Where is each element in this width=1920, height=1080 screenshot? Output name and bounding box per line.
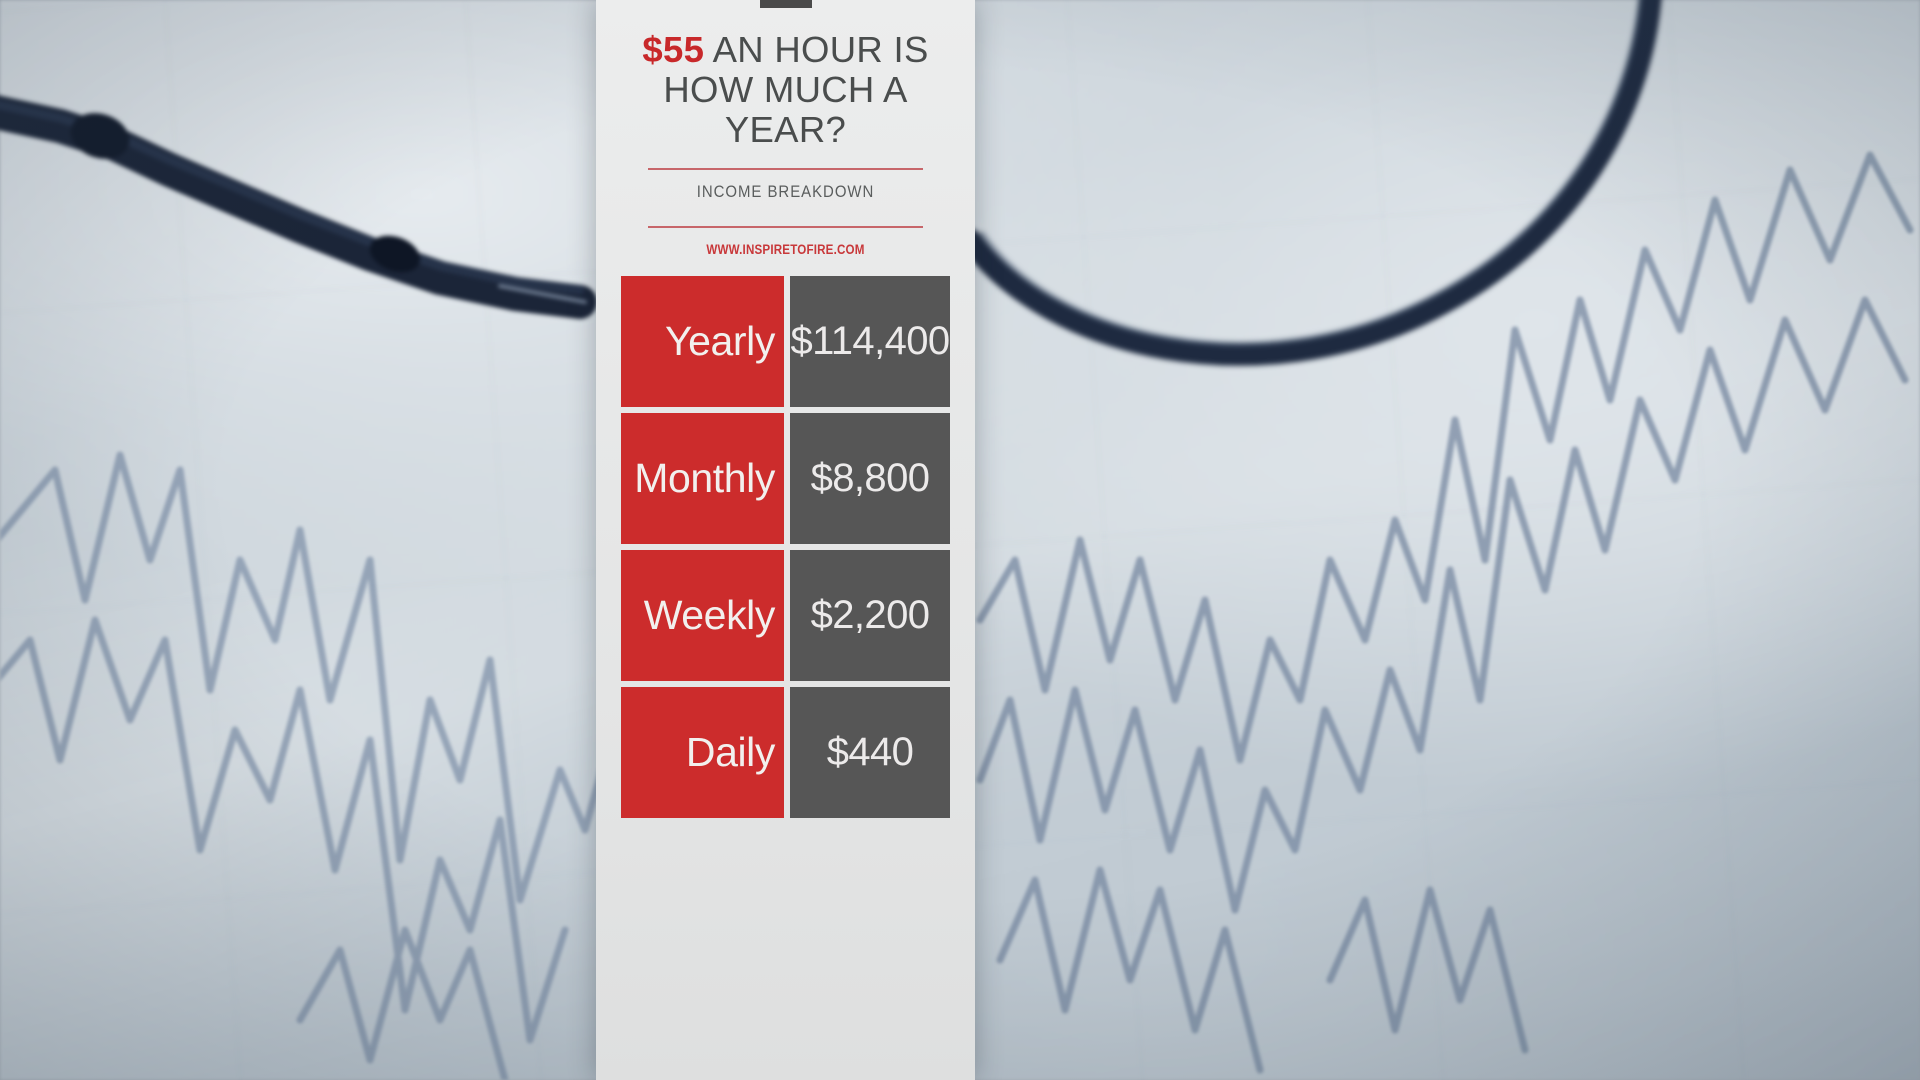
site-url: WWW.INSPIRETOFIRE.COM [641,228,929,257]
infographic-card: $55 AN HOUR IS HOW MUCH A YEAR? INCOME B… [596,0,975,1080]
card-top-tab [760,0,812,8]
eyeglasses-lens-rim-icon [930,0,1690,500]
screenshot-root: $55 AN HOUR IS HOW MUCH A YEAR? INCOME B… [0,0,1920,1080]
row-value: $2,200 [790,550,950,681]
income-breakdown-table: Yearly $114,400 Monthly $8,800 Weekly $2… [621,276,950,818]
row-label: Daily [621,687,784,818]
row-label: Monthly [621,413,784,544]
row-value: $440 [790,687,950,818]
eyeglasses-temple-arm-icon [0,40,640,330]
subtitle: INCOME BREAKDOWN [638,170,933,212]
row-label: Weekly [621,550,784,681]
row-label: Yearly [621,276,784,407]
table-row: Daily $440 [621,687,950,818]
card-header: $55 AN HOUR IS HOW MUCH A YEAR? INCOME B… [596,0,975,257]
title-rest: AN HOUR IS HOW MUCH A YEAR? [663,29,928,150]
table-row: Yearly $114,400 [621,276,950,407]
table-row: Monthly $8,800 [621,413,950,544]
title-amount: $55 [642,29,704,70]
row-value: $114,400 [790,276,950,407]
row-value: $8,800 [790,413,950,544]
table-row: Weekly $2,200 [621,550,950,681]
page-title: $55 AN HOUR IS HOW MUCH A YEAR? [618,30,953,150]
